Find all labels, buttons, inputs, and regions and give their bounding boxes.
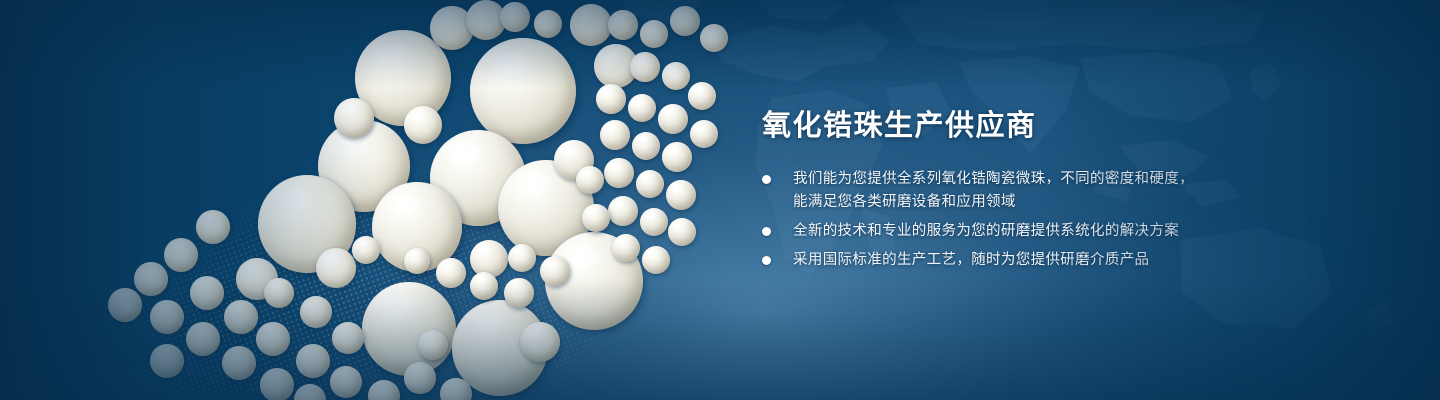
hero-banner: 氧化锆珠生产供应商 我们能为您提供全系列氧化锆陶瓷微珠，不同的密度和硬度， 能满… xyxy=(0,0,1440,400)
background-vignette xyxy=(0,0,1440,400)
